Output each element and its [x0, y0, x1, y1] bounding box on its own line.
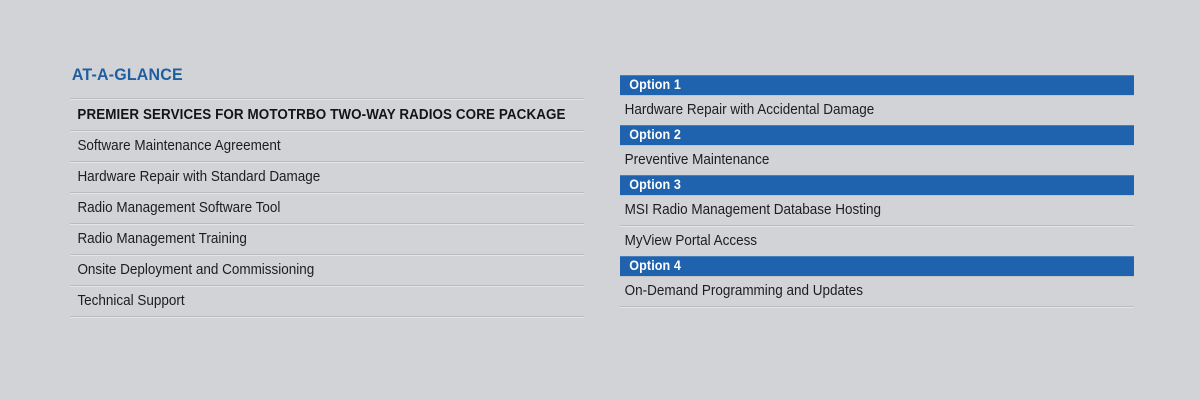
table-row: Hardware Repair with Standard Damage	[70, 163, 584, 192]
option-header-bar: Option 3	[620, 175, 1134, 196]
option-item-row: MyView Portal Access	[620, 227, 1134, 256]
page-title: AT-A-GLANCE	[70, 64, 553, 86]
divider	[620, 306, 1134, 308]
option-header-bar: Option 4	[620, 256, 1134, 277]
option-header-bar: Option 2	[620, 125, 1134, 146]
service-label: Software Maintenance Agreement	[70, 132, 281, 161]
option-label: Option 3	[620, 175, 681, 195]
table-row: Radio Management Training	[70, 225, 584, 254]
option-item-label: MSI Radio Management Database Hosting	[620, 196, 881, 225]
service-label: Technical Support	[70, 287, 185, 316]
table-row: Onsite Deployment and Commissioning	[70, 256, 584, 285]
option-label: Option 1	[620, 75, 681, 95]
core-package-panel: AT-A-GLANCE PREMIER SERVICES FOR MOTOTRB…	[70, 64, 584, 318]
option-item-row: On-Demand Programming and Updates	[620, 277, 1134, 306]
table-header-label: PREMIER SERVICES FOR MOTOTRBO TWO-WAY RA…	[70, 101, 566, 130]
option-item-label: On-Demand Programming and Updates	[620, 277, 863, 306]
option-item-row: Preventive Maintenance	[620, 146, 1134, 175]
option-item-row: Hardware Repair with Accidental Damage	[620, 96, 1134, 125]
option-item-label: Preventive Maintenance	[620, 146, 769, 175]
option-item-label: Hardware Repair with Accidental Damage	[620, 96, 874, 125]
table-header-row: PREMIER SERVICES FOR MOTOTRBO TWO-WAY RA…	[70, 100, 584, 130]
service-label: Hardware Repair with Standard Damage	[70, 163, 320, 192]
options-panel: Option 1 Hardware Repair with Accidental…	[620, 75, 1134, 308]
at-a-glance-page: AT-A-GLANCE PREMIER SERVICES FOR MOTOTRB…	[0, 0, 1200, 400]
option-label: Option 4	[620, 256, 681, 276]
option-header-bar: Option 1	[620, 75, 1134, 96]
divider	[70, 316, 584, 318]
table-row: Technical Support	[70, 287, 584, 316]
service-label: Radio Management Training	[70, 225, 247, 254]
service-label: Onsite Deployment and Commissioning	[70, 256, 314, 285]
option-label: Option 2	[620, 125, 681, 145]
table-row: Radio Management Software Tool	[70, 194, 584, 223]
table-row: Software Maintenance Agreement	[70, 132, 584, 161]
option-item-label: MyView Portal Access	[620, 227, 757, 256]
option-item-row: MSI Radio Management Database Hosting	[620, 196, 1134, 225]
service-label: Radio Management Software Tool	[70, 194, 280, 223]
